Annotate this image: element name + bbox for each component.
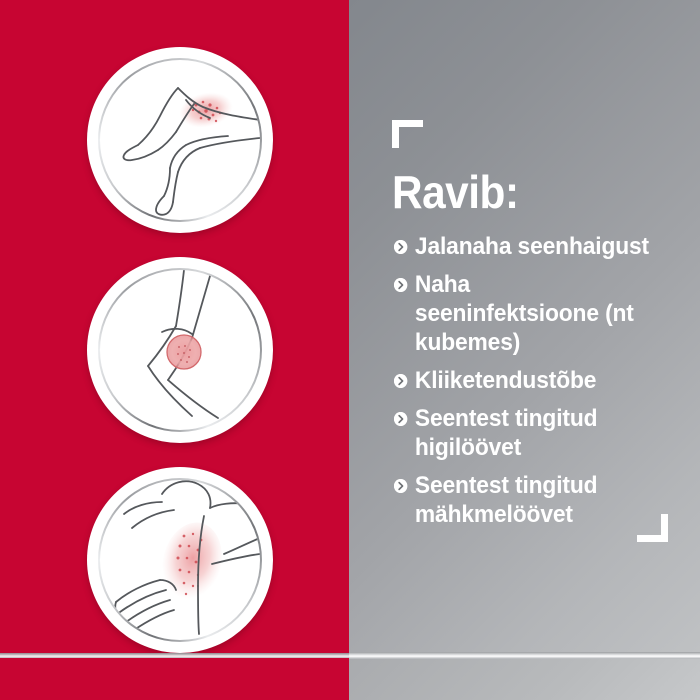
chevron-right-circle-icon (394, 479, 407, 493)
crossed-legs-rash-icon (100, 60, 260, 220)
list-item-label: Jalanaha seenhaigust (415, 232, 656, 261)
list-item-label: Kliiketendustõbe (415, 366, 656, 395)
badge-armpit (87, 467, 273, 653)
armpit-rash-icon (100, 480, 260, 640)
badge-elbow (87, 257, 273, 443)
chevron-right-circle-icon (394, 240, 407, 254)
list-item-label: Seentest tingitud higilöövet (415, 404, 656, 462)
left-red-panel (0, 0, 349, 700)
elbow-rash-icon (100, 270, 260, 430)
list-item: Seentest tingitud higilöövet (394, 404, 656, 462)
list-item-label: Naha seeninfektsioone (nt kubemes) (415, 270, 656, 357)
badge-metal-ring (98, 58, 262, 222)
chevron-right-circle-icon (394, 278, 407, 292)
chevron-right-circle-icon (394, 374, 407, 388)
list-item: Seentest tingitud mähkmelöövet (394, 471, 656, 529)
footer-strip-left (0, 658, 349, 700)
metallic-divider-rule-right (349, 652, 700, 659)
list-item: Kliiketendustõbe (394, 366, 656, 395)
badge-inner-disc (100, 480, 260, 640)
badge-crossed-legs (87, 47, 273, 233)
list-item: Naha seeninfektsioone (nt kubemes) (394, 270, 656, 357)
chevron-right-circle-icon (394, 412, 407, 426)
badge-inner-disc (100, 60, 260, 220)
footer-strip-right (349, 659, 700, 700)
list-item: Jalanaha seenhaigust (394, 232, 656, 261)
badge-inner-disc (100, 270, 260, 430)
banner-root: Ravib: Jalanaha seenhaigust Naha seeninf… (0, 0, 700, 700)
badge-metal-ring (98, 268, 262, 432)
bracket-corner-top-left-icon (392, 120, 423, 148)
treats-list: Jalanaha seenhaigust Naha seeninfektsioo… (394, 232, 670, 538)
list-item-label: Seentest tingitud mähkmelöövet (415, 471, 656, 529)
page-title: Ravib: (392, 166, 519, 218)
badge-metal-ring (98, 478, 262, 642)
